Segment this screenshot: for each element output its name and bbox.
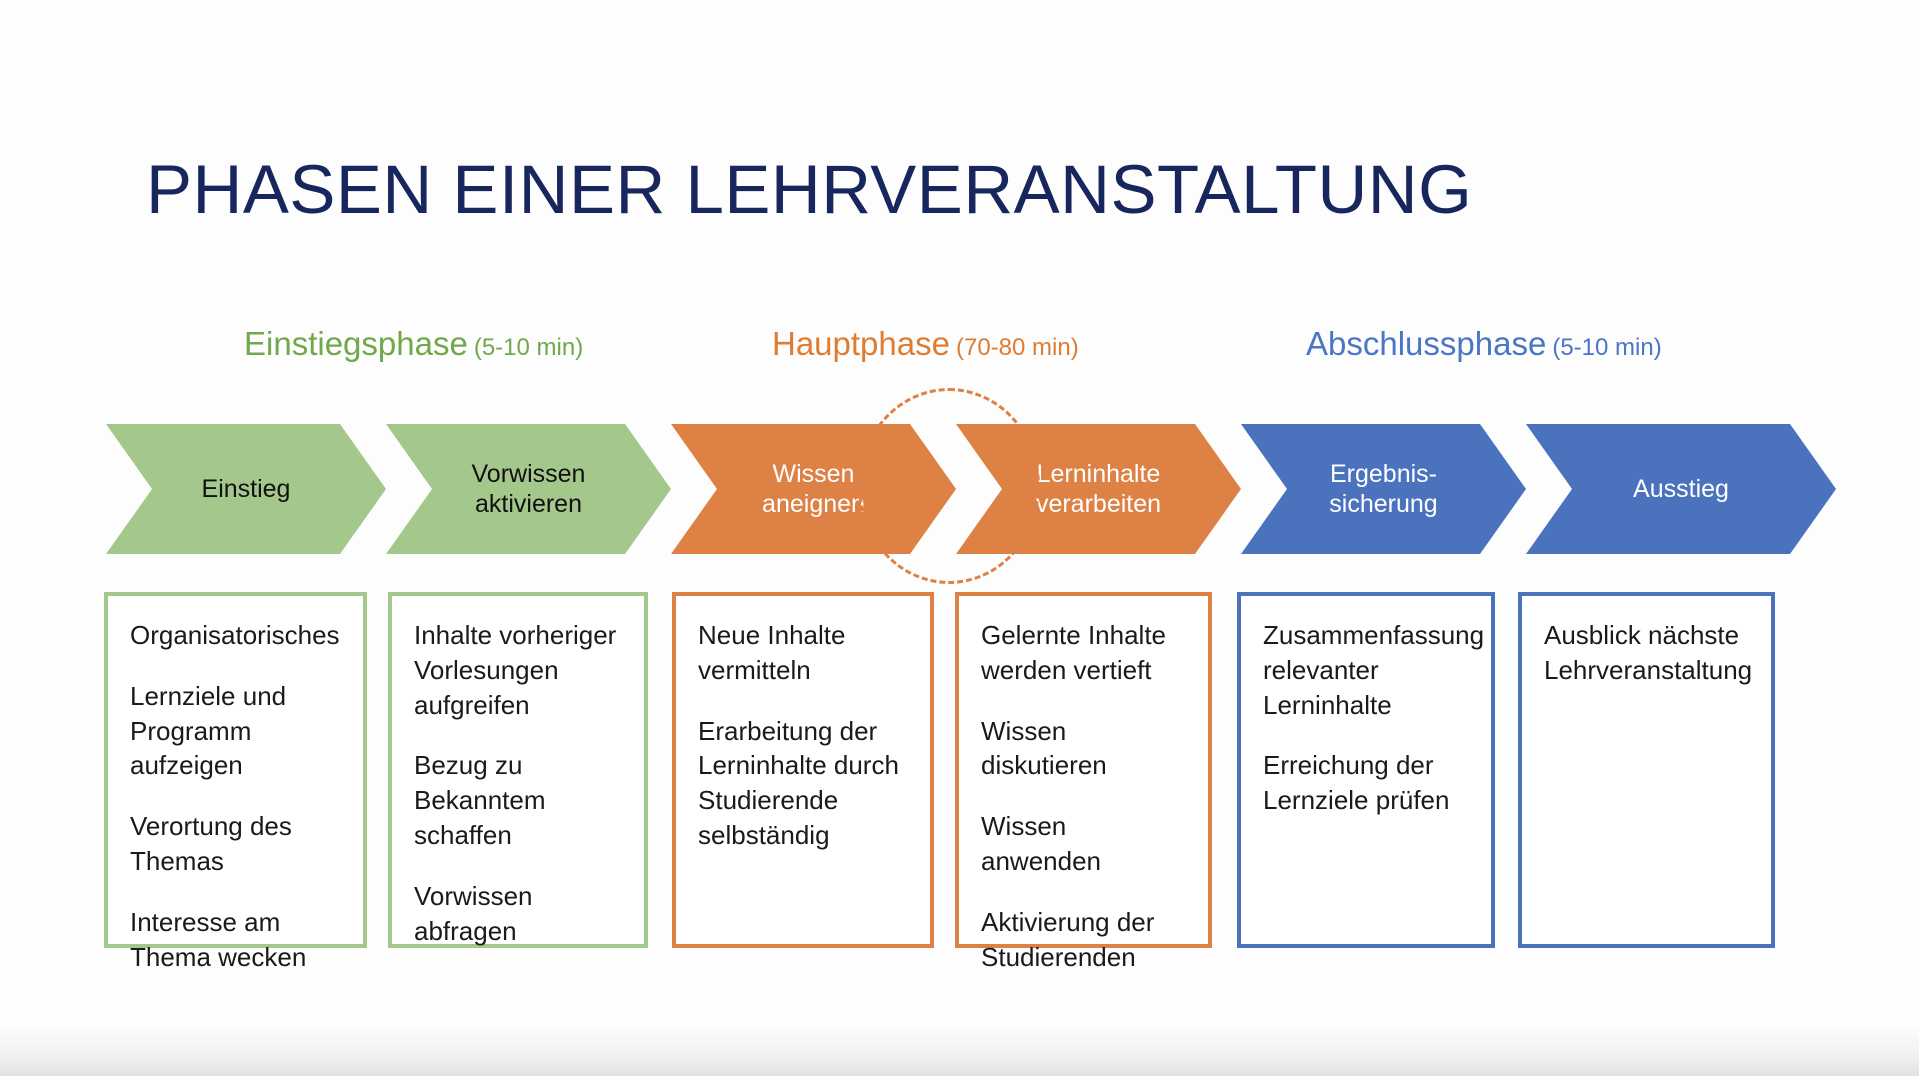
detail-item: Vorwissen abfragen [414, 879, 624, 949]
phase-duration: (5-10 min) [1552, 334, 1661, 361]
detail-item: Lernziele und Programm aufzeigen [130, 679, 343, 783]
detail-item: Inhalte vorheriger Vorlesungen aufgreife… [414, 618, 624, 722]
chevron-label-line1: Lerninhalte [1037, 460, 1161, 488]
chevron-label: Lerninhalte verarbeiten [1026, 459, 1171, 520]
detail-item: Aktivierung der Studierenden [981, 905, 1188, 975]
chevron-label-line1: Vorwissen [472, 460, 586, 488]
slide-canvas: PHASEN EINER LEHRVERANSTALTUNG Einstiegs… [0, 0, 1919, 1076]
chevron-label-line1: Einstieg [202, 475, 291, 503]
phase-header-abschlussphase: Abschlussphase(5-10 min) [1306, 325, 1662, 363]
phase-header-einstiegsphase: Einstiegsphase(5-10 min) [244, 325, 583, 363]
detail-item: Zusammenfassung relevanter Lerninhalte [1263, 618, 1471, 722]
detail-box-wissen-aneignen: Neue Inhalte vermitteln Erarbeitung der … [672, 592, 934, 948]
phase-name: Einstiegsphase [244, 325, 468, 362]
detail-box-einstieg: Organisatorisches Lernziele und Programm… [104, 592, 367, 948]
phase-duration: (5-10 min) [474, 334, 583, 361]
process-chevron-row: Einstieg Vorwissen aktivieren Wissen ane… [0, 424, 1919, 564]
chevron-label-line2: sicherung [1329, 490, 1437, 518]
chevron-label-line1: Wissen [773, 460, 855, 488]
detail-item: Neue Inhalte vermitteln [698, 618, 910, 688]
bottom-edge-shade [0, 1024, 1919, 1076]
chevron-label-line2: aktivieren [475, 490, 582, 518]
chevron-label: Einstieg [192, 474, 301, 505]
chevron-label-line2: verarbeiten [1036, 490, 1161, 518]
detail-item: Verortung des Themas [130, 809, 343, 879]
page-title: PHASEN EINER LEHRVERANSTALTUNG [146, 154, 1472, 226]
chevron-label: Ergebnis- sicherung [1319, 459, 1447, 520]
chevron-step-wissen-aneignen[interactable]: Wissen aneignen [671, 424, 956, 554]
phase-header-hauptphase: Hauptphase(70-80 min) [772, 325, 1079, 363]
chevron-step-ergebnissicherung[interactable]: Ergebnis- sicherung [1241, 424, 1526, 554]
detail-item: Gelernte Inhalte werden vertieft [981, 618, 1188, 688]
chevron-label: Vorwissen aktivieren [462, 459, 596, 520]
detail-item: Interesse am Thema wecken [130, 905, 343, 975]
chevron-step-lerninhalte-verarbeiten[interactable]: Lerninhalte verarbeiten [956, 424, 1241, 554]
phase-duration: (70-80 min) [956, 334, 1079, 361]
chevron-label-line1: Ausstieg [1633, 475, 1729, 503]
detail-box-row: Organisatorisches Lernziele und Programm… [0, 592, 1919, 952]
detail-box-ergebnissicherung: Zusammenfassung relevanter Lerninhalte E… [1237, 592, 1495, 948]
chevron-label-line2: aneignen [762, 490, 865, 518]
detail-item: Wissen diskutieren [981, 714, 1188, 784]
chevron-step-einstieg[interactable]: Einstieg [106, 424, 386, 554]
phase-name: Abschlussphase [1306, 325, 1546, 362]
chevron-step-ausstieg[interactable]: Ausstieg [1526, 424, 1836, 554]
detail-item: Wissen anwenden [981, 809, 1188, 879]
chevron-label: Wissen aneignen [752, 459, 875, 520]
detail-box-lerninhalte-verarbeiten: Gelernte Inhalte werden vertieft Wissen … [955, 592, 1212, 948]
chevron-step-vorwissen-aktivieren[interactable]: Vorwissen aktivieren [386, 424, 671, 554]
phase-name: Hauptphase [772, 325, 950, 362]
detail-item: Organisatorisches [130, 618, 343, 653]
chevron-label: Ausstieg [1623, 474, 1739, 505]
detail-box-vorwissen-aktivieren: Inhalte vorheriger Vorlesungen aufgreife… [388, 592, 648, 948]
detail-item: Erarbeitung der Lerninhalte durch Studie… [698, 714, 910, 853]
detail-item: Bezug zu Bekanntem schaffen [414, 748, 624, 852]
detail-item: Ausblick nächste Lehrveranstaltung [1544, 618, 1751, 688]
detail-item: Erreichung der Lernziele prüfen [1263, 748, 1471, 818]
chevron-label-line1: Ergebnis- [1330, 460, 1437, 488]
detail-box-ausstieg: Ausblick nächste Lehrveranstaltung [1518, 592, 1775, 948]
